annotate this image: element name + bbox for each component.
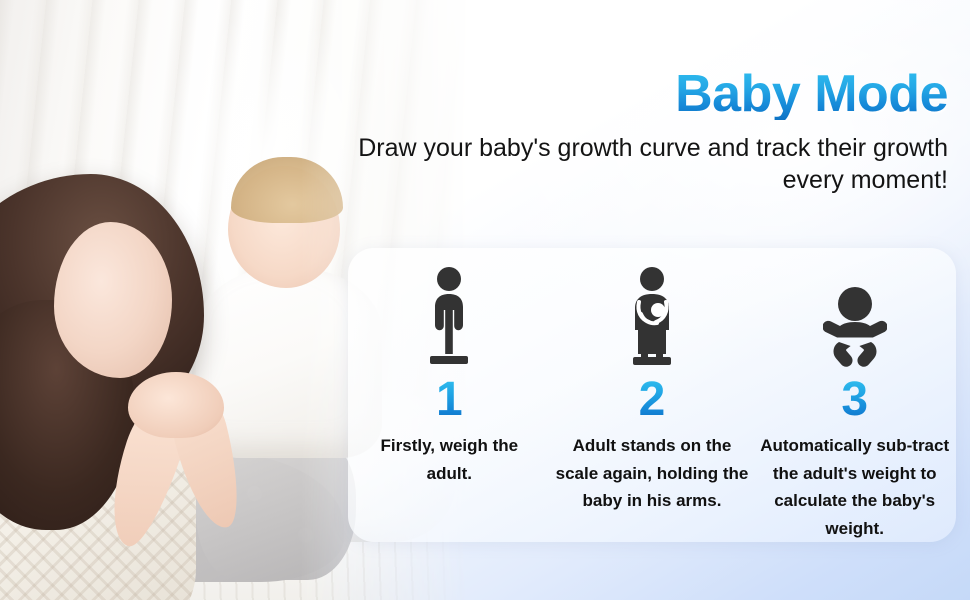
step-text-1: Firstly, weigh the adult. [359,432,539,487]
person-standing-on-scale-icon [421,270,477,370]
step-number-2: 2 [639,376,666,424]
step-number-3: 3 [841,376,868,424]
photo-mother-face [54,222,172,378]
step-item-2: 2 Adult stands on the scale again, holdi… [551,248,754,515]
step-item-3: 3 Automatically sub-tract the adult's we… [753,248,956,542]
baby-icon [823,270,887,370]
step-text-2: Adult stands on the scale again, holding… [554,432,750,515]
step-item-1: 1 Firstly, weigh the adult. [348,248,551,487]
baby-mode-banner: Baby Mode Draw your baby's growth curve … [0,0,970,600]
photo-clasped-hands [128,372,224,438]
steps-list: 1 Firstly, weigh the adult. [348,248,956,542]
step-text-3: Automatically sub-tract the adult's weig… [757,432,953,542]
page-title: Baby Mode [675,68,948,120]
adult-holding-baby-on-scale-icon [621,270,683,370]
step-number-1: 1 [436,376,463,424]
page-subtitle: Draw your baby's growth curve and track … [323,132,948,196]
